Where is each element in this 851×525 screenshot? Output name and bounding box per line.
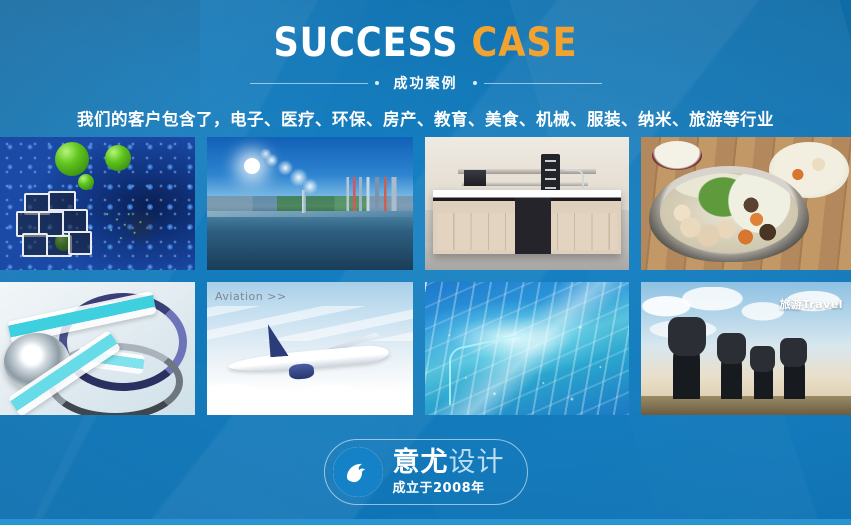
subtitle-chinese: 成功案例 — [386, 73, 466, 93]
case-gallery: Aviation >> — [0, 137, 851, 427]
brand-name-thin: 设计 — [449, 447, 505, 478]
laboratory-furniture-image — [425, 137, 629, 270]
water-surface — [207, 211, 413, 270]
brand-mark-glyph — [341, 455, 375, 489]
medical-image — [0, 282, 195, 415]
brand-logo-circle — [333, 447, 383, 497]
fullerene-molecule-icon — [14, 191, 96, 259]
brand-badge[interactable]: 意尤设计 成立于2008年 — [324, 439, 528, 505]
brand-text: 意尤设计 成立于2008年 — [393, 449, 505, 495]
nanotechnology-image — [0, 137, 195, 270]
nano-sphere-icon — [105, 145, 131, 171]
sauce-bowl — [652, 141, 702, 170]
tagline-text: 我们的客户包含了，电子、医疗、环保、房产、教育、美食、机械、服装、纳米、旅游等行… — [0, 106, 851, 130]
industrial-plant — [343, 177, 405, 212]
bottom-edge-strip — [0, 519, 851, 525]
gallery-row-1 — [0, 137, 851, 270]
title-word-case: CASE — [472, 20, 578, 66]
hill-ground — [641, 396, 851, 415]
gallery-row-2: Aviation >> — [0, 282, 851, 415]
lab-dark-cabinet — [515, 190, 552, 254]
brand-established: 成立于2008年 — [393, 482, 505, 495]
banner-header: SUCCESS CASE 成功案例 我们的客户包含了，电子、医疗、环保、房产、教… — [0, 0, 851, 130]
case-thumb-medical[interactable] — [0, 282, 195, 415]
divider-line-left — [250, 83, 368, 84]
footer-brand: 意尤设计 成立于2008年 — [0, 439, 851, 505]
backpack-silhouette — [668, 317, 706, 357]
divider-dot-right-icon — [473, 81, 477, 85]
backpack-silhouette — [780, 338, 807, 367]
hotpot-contents — [660, 173, 799, 253]
circuit-highlights — [425, 282, 629, 415]
lab-control-panel — [541, 154, 559, 194]
nano-sphere-icon — [55, 142, 89, 176]
lab-faucet-icon — [564, 169, 584, 188]
cirrus-cloud-band — [207, 306, 413, 341]
subtitle-row: 成功案例 — [0, 73, 851, 93]
page-title: SUCCESS CASE — [51, 22, 800, 64]
electronics-image — [425, 282, 629, 415]
backpack-silhouette — [750, 346, 775, 373]
divider-dot-left-icon — [375, 81, 379, 85]
brand-logo-icon — [333, 447, 383, 497]
case-thumb-environmental-protection[interactable] — [207, 137, 413, 270]
brand-name-bold: 意尤 — [393, 447, 449, 478]
success-case-banner: SUCCESS CASE 成功案例 我们的客户包含了，电子、医疗、环保、房产、教… — [0, 0, 851, 525]
case-thumb-food[interactable] — [641, 137, 851, 270]
case-thumb-aviation[interactable]: Aviation >> — [207, 282, 413, 415]
environmental-protection-image — [207, 137, 413, 270]
case-thumb-laboratory-furniture[interactable] — [425, 137, 629, 270]
nano-sphere-icon — [78, 174, 94, 190]
travel-label: 旅游Travel — [779, 296, 843, 312]
brand-name: 意尤设计 — [393, 449, 505, 476]
case-thumb-nanotechnology[interactable] — [0, 137, 195, 270]
case-thumb-travel[interactable]: 旅游Travel — [641, 282, 851, 415]
smoke-plume — [254, 148, 353, 206]
divider-line-right — [484, 83, 602, 84]
food-hotpot-image — [641, 137, 851, 270]
backpack-silhouette — [717, 333, 746, 365]
aviation-label: Aviation >> — [215, 290, 287, 303]
title-word-success: SUCCESS — [273, 20, 458, 66]
lab-equipment-box — [464, 170, 486, 186]
case-thumb-electronics[interactable] — [425, 282, 629, 415]
